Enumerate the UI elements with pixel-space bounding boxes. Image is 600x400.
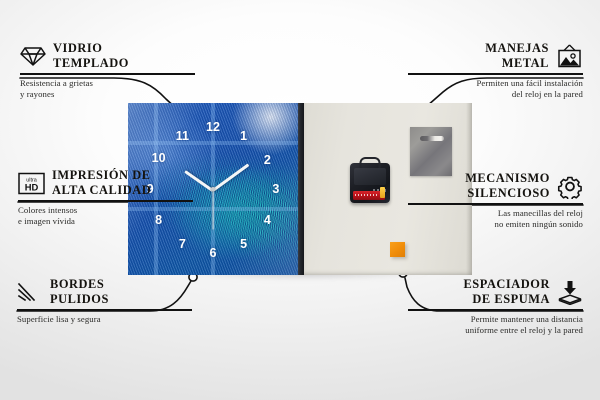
feature-rule <box>17 309 192 311</box>
feature-title-line1: BORDES <box>50 277 109 292</box>
mechanism-housing <box>354 168 386 185</box>
feature-vidrio-templado[interactable]: VIDRIO TEMPLADO Resistencia a grietas y … <box>20 41 195 101</box>
feature-title-line1: MANEJAS <box>485 41 549 56</box>
second-hand <box>212 190 213 230</box>
clock-numeral: 1 <box>240 129 247 143</box>
feature-rule <box>408 203 583 205</box>
feature-desc-line1: Permiten una fácil instalación <box>408 78 583 90</box>
feature-rule <box>18 200 193 202</box>
feature-desc-line1: Colores intensos <box>18 205 193 217</box>
feature-desc-line1: Permite mantener una distancia <box>408 314 583 326</box>
battery-terminal <box>380 187 385 198</box>
feature-bordes-pulidos[interactable]: BORDES PULIDOS Superficie lisa y segura <box>17 277 192 325</box>
feature-desc-line2: uniforme entre el reloj y la pared <box>408 325 583 337</box>
feature-heading: ultra HD IMPRESIÓN DE ALTA CALIDAD <box>18 168 193 198</box>
feature-desc-line1: Resistencia a grietas <box>20 78 195 90</box>
feature-title-line2: ALTA CALIDAD <box>52 183 151 198</box>
hanger-slot <box>420 136 444 141</box>
feature-rule <box>408 309 583 311</box>
feature-title-line1: MECANISMO <box>465 171 550 186</box>
feature-title-line2: SILENCIOSO <box>465 186 550 201</box>
feature-espaciador-espuma[interactable]: ESPACIADOR DE ESPUMA Permite mantener un… <box>408 277 583 337</box>
feature-title-line1: ESPACIADOR <box>463 277 550 292</box>
feature-desc-line2: e imagen vívida <box>18 216 193 228</box>
feature-heading: BORDES PULIDOS <box>17 277 192 307</box>
feature-title-line2: PULIDOS <box>50 292 109 307</box>
feature-desc-line2: no emiten ningún sonido <box>408 219 583 231</box>
clock-mechanism <box>350 163 390 203</box>
feature-desc-line1: Superficie lisa y segura <box>17 314 192 326</box>
arrow-down-onto-pad-icon <box>557 280 583 305</box>
clock-numeral: 11 <box>176 129 189 143</box>
hanger-plate <box>410 127 452 176</box>
feature-title-line1: VIDRIO <box>53 41 129 56</box>
feature-heading: MANEJAS METAL <box>408 41 583 71</box>
battery <box>353 191 385 200</box>
feature-rule <box>20 73 195 75</box>
feature-rule <box>408 73 583 75</box>
feature-title-line2: DE ESPUMA <box>463 292 550 307</box>
feature-desc-line2: del reloj en la pared <box>408 89 583 101</box>
feature-desc-line2: y rayones <box>20 89 195 101</box>
feature-title-line1: IMPRESIÓN DE <box>52 168 151 183</box>
feature-impresion-alta-calidad[interactable]: ultra HD IMPRESIÓN DE ALTA CALIDAD Color… <box>18 168 193 228</box>
gear-icon <box>557 174 583 199</box>
clock-numeral: 6 <box>210 246 217 260</box>
clock-numeral: 7 <box>179 237 186 251</box>
feature-heading: ESPACIADOR DE ESPUMA <box>408 277 583 307</box>
beveled-edges-icon <box>17 281 43 303</box>
foam-spacer <box>390 242 405 257</box>
clock-center-pin <box>211 187 215 191</box>
svg-text:HD: HD <box>25 181 39 192</box>
clock-numeral: 2 <box>264 153 271 167</box>
clock-numeral: 4 <box>264 213 271 227</box>
ultra-hd-icon: ultra HD <box>18 172 45 195</box>
feature-title-line2: METAL <box>485 56 549 71</box>
feature-mecanismo-silencioso[interactable]: MECANISMO SILENCIOSO Las manecillas del … <box>408 171 583 231</box>
clock-numeral: 10 <box>152 151 166 165</box>
infographic-stage: 12 1 2 3 4 5 6 7 8 9 10 11 <box>0 0 600 400</box>
feature-heading: MECANISMO SILENCIOSO <box>408 171 583 201</box>
feature-desc-line1: Las manecillas del reloj <box>408 208 583 220</box>
clock-numeral: 3 <box>272 182 279 196</box>
feature-title-line2: TEMPLADO <box>53 56 129 71</box>
clock-numeral: 12 <box>206 120 220 134</box>
feature-manejas-metal[interactable]: MANEJAS METAL Permiten una fácil instala… <box>408 41 583 101</box>
clock-numeral: 5 <box>240 237 247 251</box>
picture-frame-hanger-icon <box>556 44 583 69</box>
feature-heading: VIDRIO TEMPLADO <box>20 41 195 71</box>
diamond-icon <box>20 45 46 67</box>
